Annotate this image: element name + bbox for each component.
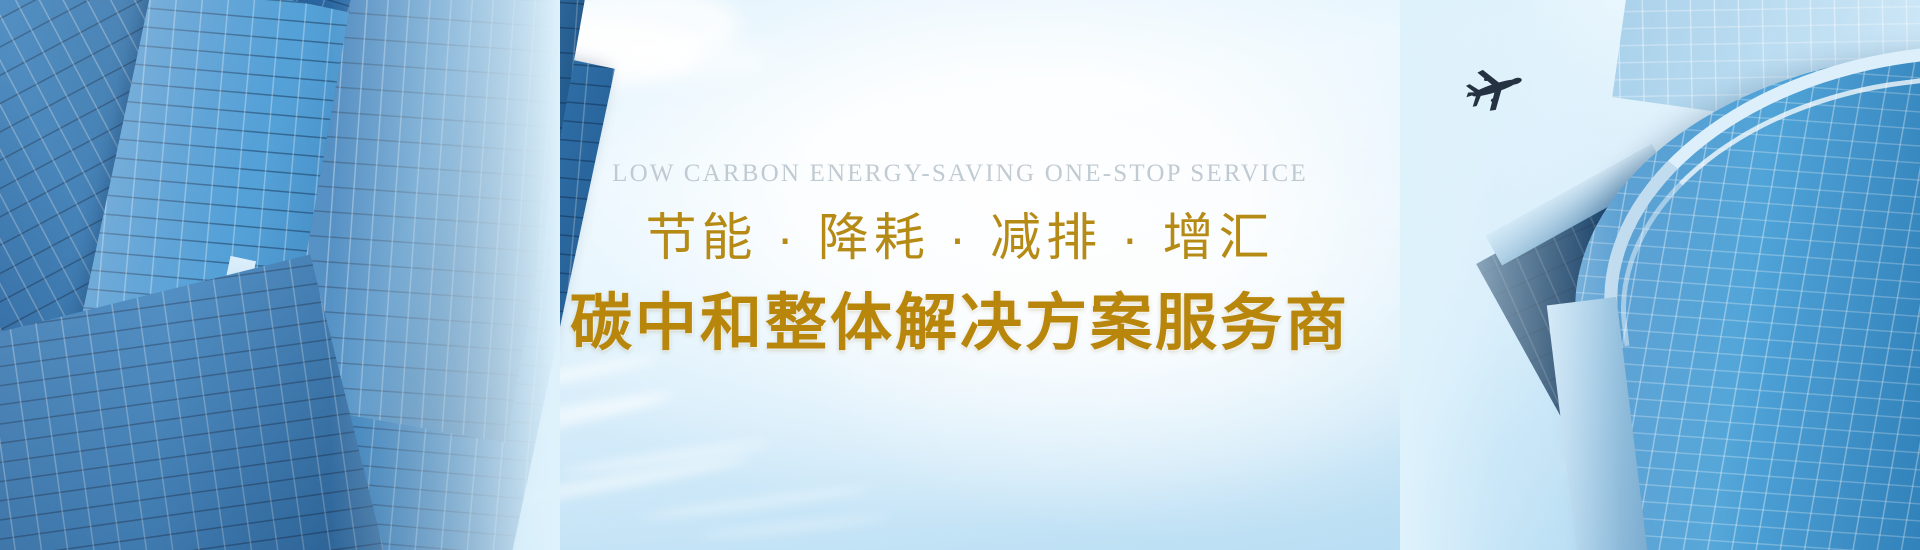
banner-headline: 碳中和整体解决方案服务商: [0, 272, 1920, 362]
banner-eyebrow: LOW CARBON ENERGY-SAVING ONE-STOP SERVIC…: [0, 160, 1920, 188]
hero-banner: LOW CARBON ENERGY-SAVING ONE-STOP SERVIC…: [0, 0, 1920, 550]
airplane-icon: [1455, 58, 1535, 118]
banner-subheadline: 节能 · 降耗 · 减排 · 增汇: [0, 196, 1920, 270]
